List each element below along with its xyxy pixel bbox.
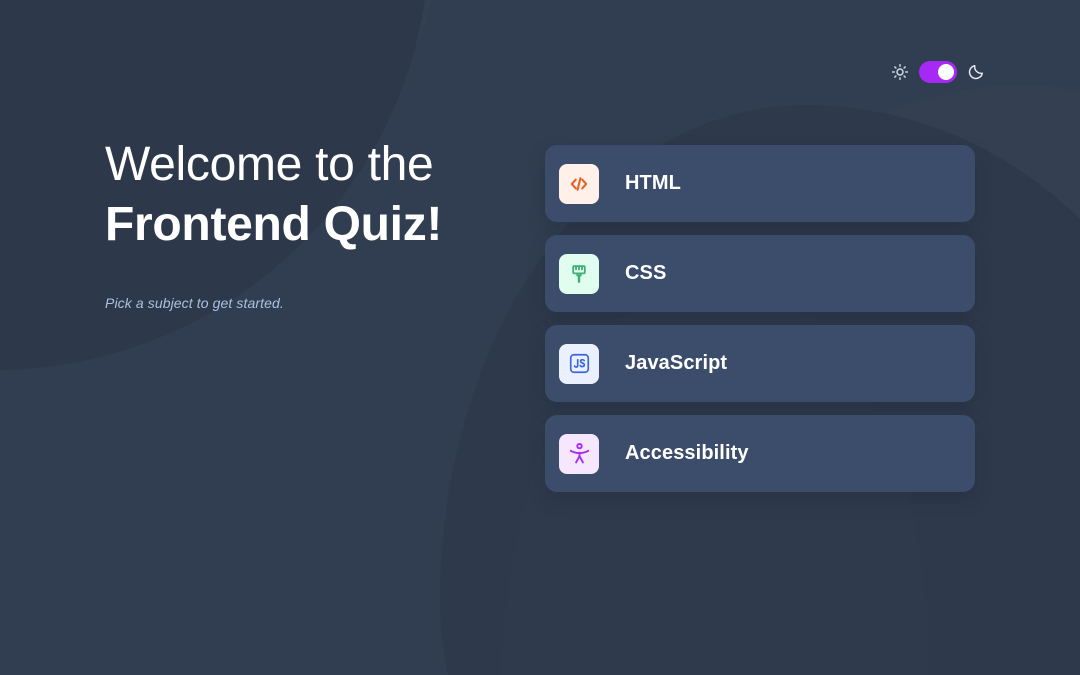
page-subtitle: Pick a subject to get started. — [105, 295, 525, 311]
accessibility-person-icon — [559, 434, 599, 474]
theme-toggle-switch[interactable] — [919, 61, 957, 83]
subject-label: Accessibility — [625, 442, 749, 465]
subject-card-html[interactable]: HTML — [545, 145, 975, 222]
paintbrush-icon — [559, 254, 599, 294]
subject-card-accessibility[interactable]: Accessibility — [545, 415, 975, 492]
moon-icon — [967, 63, 985, 81]
subject-label: CSS — [625, 262, 666, 285]
theme-toggle[interactable] — [891, 61, 985, 83]
subject-card-css[interactable]: CSS — [545, 235, 975, 312]
subject-label: HTML — [625, 172, 681, 195]
subject-list: HTML CSS JavaScript — [545, 145, 975, 492]
sun-icon — [891, 63, 909, 81]
page-title-line-1: Welcome to the — [105, 141, 525, 189]
quiz-start-page: Welcome to the Frontend Quiz! Pick a sub… — [0, 0, 1080, 675]
code-brackets-icon — [559, 164, 599, 204]
subject-label: JavaScript — [625, 352, 727, 375]
theme-toggle-knob — [938, 64, 954, 80]
page-title-line-2: Frontend Quiz! — [105, 201, 525, 249]
intro-block: Welcome to the Frontend Quiz! Pick a sub… — [105, 141, 525, 311]
js-badge-icon — [559, 344, 599, 384]
subject-card-javascript[interactable]: JavaScript — [545, 325, 975, 402]
